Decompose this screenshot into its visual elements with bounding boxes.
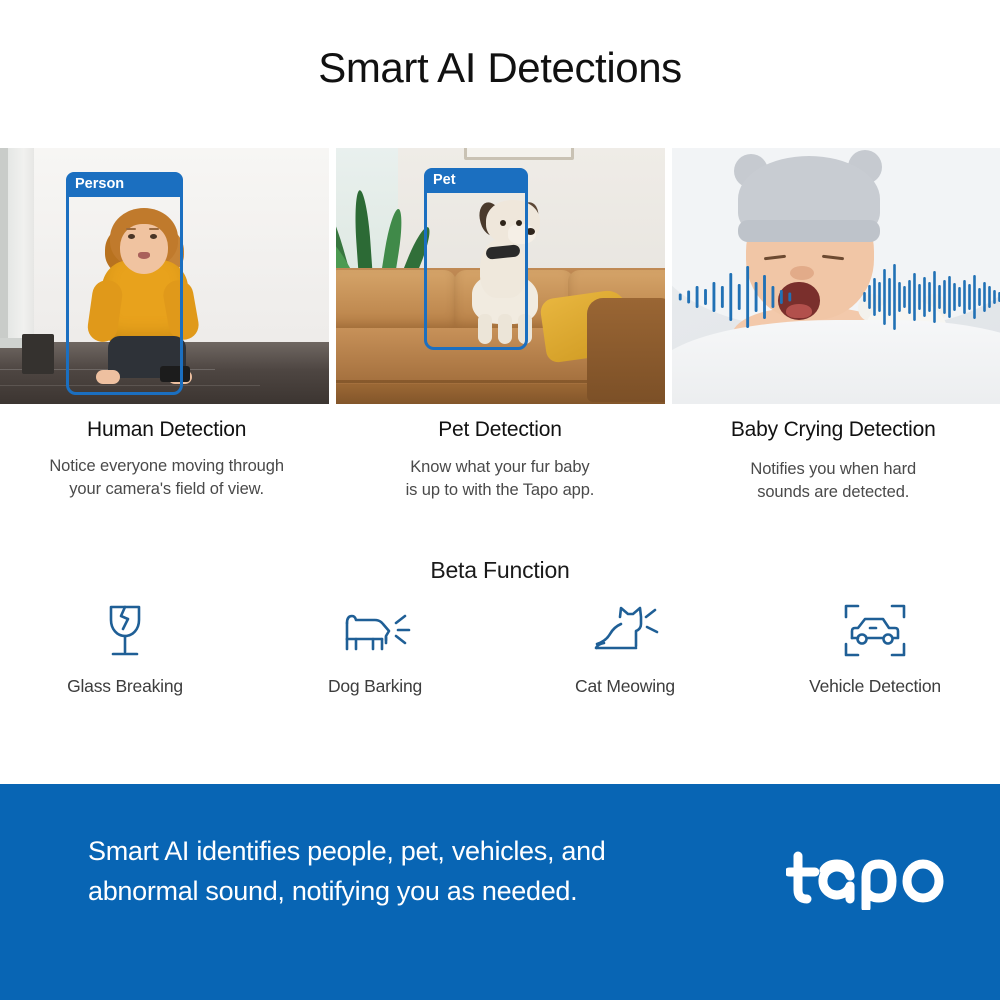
detection-cards-row: Person (0, 148, 1000, 404)
caption-heading: Baby Crying Detection (667, 418, 1000, 442)
beta-item-label: Cat Meowing (500, 676, 750, 697)
detection-badge-person: Person (66, 172, 183, 197)
beta-function-title: Beta Function (0, 557, 1000, 584)
caption-line-2: sounds are detected. (757, 483, 909, 501)
ai-detections-infographic: Smart AI Detections (0, 0, 1000, 1000)
page-title: Smart AI Detections (0, 44, 1000, 92)
caption-line-1: Notifies you when hard (750, 460, 916, 478)
caption-text: Notifies you when hard sounds are detect… (667, 458, 1000, 505)
dog-barking-icon (250, 600, 500, 662)
detection-card-pet: Pet (336, 148, 665, 404)
audio-waveform-right (862, 260, 1000, 334)
detection-badge-pet: Pet (424, 168, 528, 193)
detection-card-human: Person (0, 148, 329, 404)
detection-bounding-box-person: Person (66, 172, 183, 395)
beta-item-cat-meowing[interactable]: Cat Meowing (500, 600, 750, 697)
audio-waveform-left (676, 260, 794, 334)
footer-line-1: Smart AI identifies people, pet, vehicle… (88, 836, 606, 866)
scene-baby-crying (672, 148, 1000, 404)
detection-bounding-box-pet: Pet (424, 168, 528, 350)
caption-line-1: Know what your fur baby (410, 458, 589, 476)
vehicle-detection-icon (750, 600, 1000, 662)
caption-text: Notice everyone moving through your came… (0, 455, 333, 502)
caption-text: Know what your fur baby is up to with th… (333, 456, 666, 503)
beta-item-vehicle-detection[interactable]: Vehicle Detection (750, 600, 1000, 697)
caption-line-1: Notice everyone moving through (49, 457, 284, 475)
footer-line-2: abnormal sound, notifying you as needed. (88, 876, 577, 906)
beta-item-dog-barking[interactable]: Dog Barking (250, 600, 500, 697)
beta-function-row: Glass Breaking Dog Barking (0, 600, 1000, 697)
broken-glass-icon (0, 600, 250, 662)
hat-brim (738, 220, 880, 242)
caption-heading: Human Detection (0, 418, 333, 442)
tapo-logo (786, 846, 946, 910)
footer-tagline: Smart AI identifies people, pet, vehicle… (88, 832, 688, 911)
caption-heading: Pet Detection (333, 418, 666, 442)
floor-object (22, 334, 54, 374)
caption-line-2: your camera's field of view. (69, 480, 264, 498)
footer-banner: Smart AI identifies people, pet, vehicle… (0, 784, 1000, 1000)
caption-baby-crying-detection: Baby Crying Detection Notifies you when … (667, 418, 1000, 505)
couch-armrest (587, 298, 665, 402)
caption-line-2: is up to with the Tapo app. (406, 481, 595, 499)
beta-item-label: Glass Breaking (0, 676, 250, 697)
wall-picture-frame (464, 148, 574, 160)
caption-pet-detection: Pet Detection Know what your fur baby is… (333, 418, 666, 505)
caption-human-detection: Human Detection Notice everyone moving t… (0, 418, 333, 505)
beta-item-label: Vehicle Detection (750, 676, 1000, 697)
beta-item-glass-breaking[interactable]: Glass Breaking (0, 600, 250, 697)
cat-meowing-icon (500, 600, 750, 662)
card-captions-row: Human Detection Notice everyone moving t… (0, 418, 1000, 505)
detection-card-baby (672, 148, 1000, 404)
beta-item-label: Dog Barking (250, 676, 500, 697)
